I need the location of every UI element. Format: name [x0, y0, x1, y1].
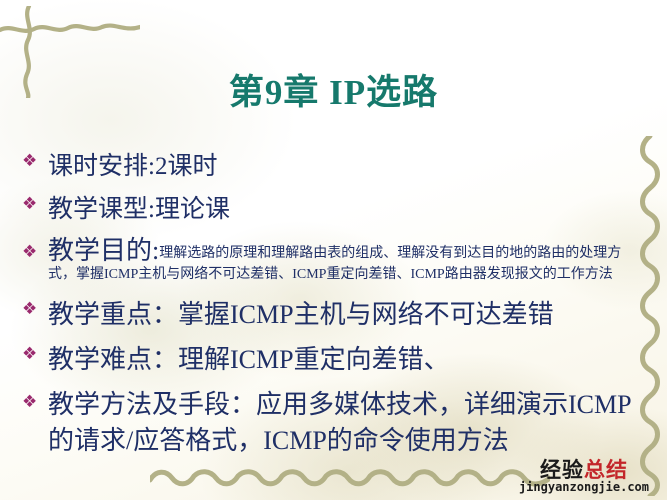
slide-body: ❖ 课时安排:2课时 ❖ 教学课型:理论课 ❖ 教学目的:理解选路的原理和理解路…	[22, 148, 644, 461]
spacer	[22, 287, 644, 295]
bullet-item-difficulty: ❖ 教学难点：理解ICMP重定向差错、	[22, 340, 644, 379]
watermark-cn: 经验总结	[519, 459, 649, 481]
slide-canvas: 第9章 IP选路 ❖ 课时安排:2课时 ❖ 教学课型:理论课 ❖ 教学目的:理解…	[0, 0, 667, 500]
watermark-url: jingyanzongjie.com	[519, 481, 649, 494]
slide-title: 第9章 IP选路	[0, 64, 667, 115]
bullet-item-key-point-text: 教学重点：掌握ICMP主机与网络不可达差错	[48, 295, 644, 334]
bullet-item-key-point: ❖ 教学重点：掌握ICMP主机与网络不可达差错	[22, 295, 644, 334]
bullet-item-course-type: ❖ 教学课型:理论课	[22, 191, 644, 228]
bullet-item-objective: ❖ 教学目的:理解选路的原理和理解路由表的组成、理解没有到达目的地的路由的处理方…	[22, 238, 644, 285]
bullet-item-hours-text: 课时安排:2课时	[48, 148, 644, 185]
bullet-diamond-icon: ❖	[22, 387, 48, 411]
bullet-item-objective-body: 教学目的:理解选路的原理和理解路由表的组成、理解没有到达目的地的路由的处理方式，…	[48, 238, 644, 285]
decorative-horizontal-stroke-icon	[0, 16, 140, 42]
bullet-diamond-icon: ❖	[22, 295, 48, 318]
watermark: 经验总结 jingyanzongjie.com	[519, 459, 649, 494]
bullet-item-method-text: 教学方法及手段：应用多媒体技术，详细演示ICMP的请求/应答格式，ICMP的命令…	[48, 387, 644, 459]
watermark-cn-dark: 经验	[540, 458, 584, 482]
bullet-diamond-icon: ❖	[22, 191, 48, 213]
bullet-item-method: ❖ 教学方法及手段：应用多媒体技术，详细演示ICMP的请求/应答格式，ICMP的…	[22, 387, 644, 459]
bullet-diamond-icon: ❖	[22, 238, 48, 261]
watermark-cn-red: 总结	[584, 458, 628, 482]
bullet-diamond-icon: ❖	[22, 340, 48, 363]
bullet-diamond-icon: ❖	[22, 148, 48, 170]
bullet-item-hours: ❖ 课时安排:2课时	[22, 148, 644, 185]
bullet-item-objective-label: 教学目的:	[48, 236, 159, 265]
bullet-item-course-type-text: 教学课型:理论课	[48, 191, 644, 228]
bullet-item-difficulty-text: 教学难点：理解ICMP重定向差错、	[48, 340, 644, 379]
decorative-bottom-wave-icon	[150, 462, 550, 492]
